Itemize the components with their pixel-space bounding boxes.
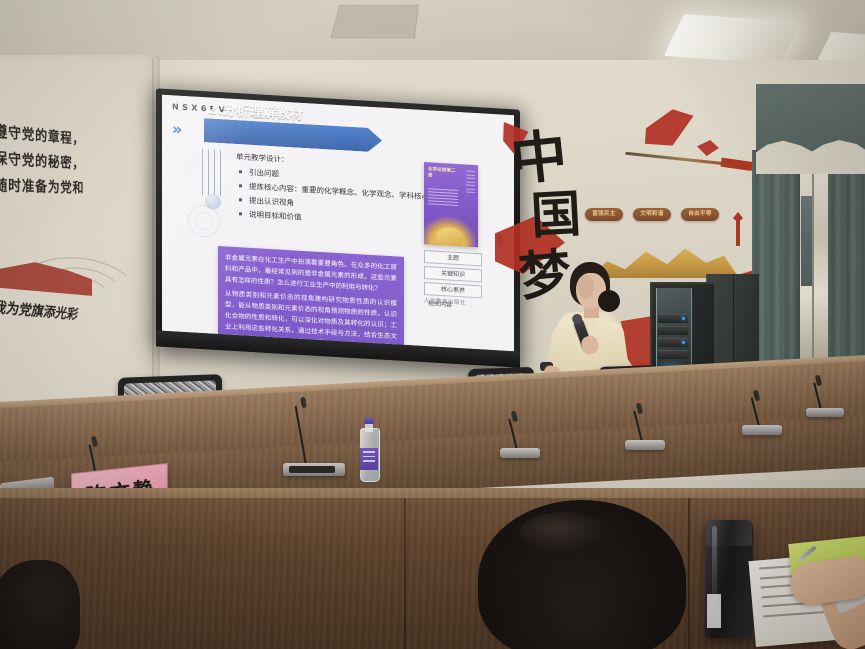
slide-textbook-side-lines	[466, 170, 475, 211]
water-bottle[interactable]	[360, 418, 378, 480]
table-panel-seam	[688, 498, 690, 649]
ceiling-light-fixture	[664, 14, 800, 64]
slide-textbook-title: 化学必修第二册	[428, 167, 458, 181]
window-view	[801, 196, 812, 286]
ribbon-swoosh-motif	[625, 150, 755, 172]
display-screen[interactable]: NSX6FV » 2.分析理解教材 单元教学设计： 引出问题 提炼核心内容：重要…	[162, 95, 514, 352]
water-bottle-cap[interactable]	[364, 418, 374, 424]
virtue-plaque: 自由平等	[681, 208, 719, 221]
slide-bullet-list: 单元教学设计： 引出问题 提炼核心内容：重要的化学概念、化学观念、学科核心观念 …	[236, 151, 446, 234]
audience-hair-highlight	[520, 512, 610, 552]
slide-textbook-gold-illustration	[424, 214, 478, 247]
virtue-plaque: 富强民主	[585, 208, 623, 221]
thermos-flask[interactable]	[705, 520, 753, 638]
ceiling-access-panel	[330, 5, 419, 39]
rack-led-indicator	[682, 341, 685, 344]
wall-mounted-television[interactable]: NSX6FV » 2.分析理解教材 单元教学设计： 引出问题 提炼核心内容：重要…	[156, 88, 520, 367]
slide-textbook-text-lines	[428, 188, 458, 208]
audience-member-head-left	[0, 560, 80, 649]
rack-led-indicator	[682, 317, 685, 320]
virtue-plaque: 文明和谐	[633, 208, 671, 221]
slide-label: 关键知识	[424, 266, 482, 282]
calligraphy-character: 中	[508, 127, 570, 189]
calligraphy-character: 国	[530, 189, 583, 242]
conference-room-photo: 遵守党的章程， 保守党的秘密， 随时准备为党和 我为党旗添光彩 NSX6FV »…	[0, 0, 865, 649]
water-bottle-label	[360, 448, 378, 470]
chevron-right-icon: »	[172, 120, 208, 139]
virtue-plaque-group: 富强民主 文明和谐 自由平等	[585, 208, 725, 226]
slide-label: 主题	[424, 250, 482, 266]
party-oath-line-3: 随时准备为党和	[0, 172, 111, 201]
thermos-label-band	[707, 594, 721, 628]
party-oath-text: 遵守党的章程， 保守党的秘密， 随时准备为党和	[0, 118, 111, 201]
rack-unit	[658, 326, 688, 335]
table-panel-seam	[404, 498, 406, 649]
rack-unit	[658, 350, 688, 359]
presenter-hair-bun	[598, 290, 620, 312]
slide-textbook-cover-image: 化学必修第二册	[424, 162, 478, 247]
presentation-slide: NSX6FV » 2.分析理解教材 单元教学设计： 引出问题 提炼核心内容：重要…	[162, 95, 514, 352]
